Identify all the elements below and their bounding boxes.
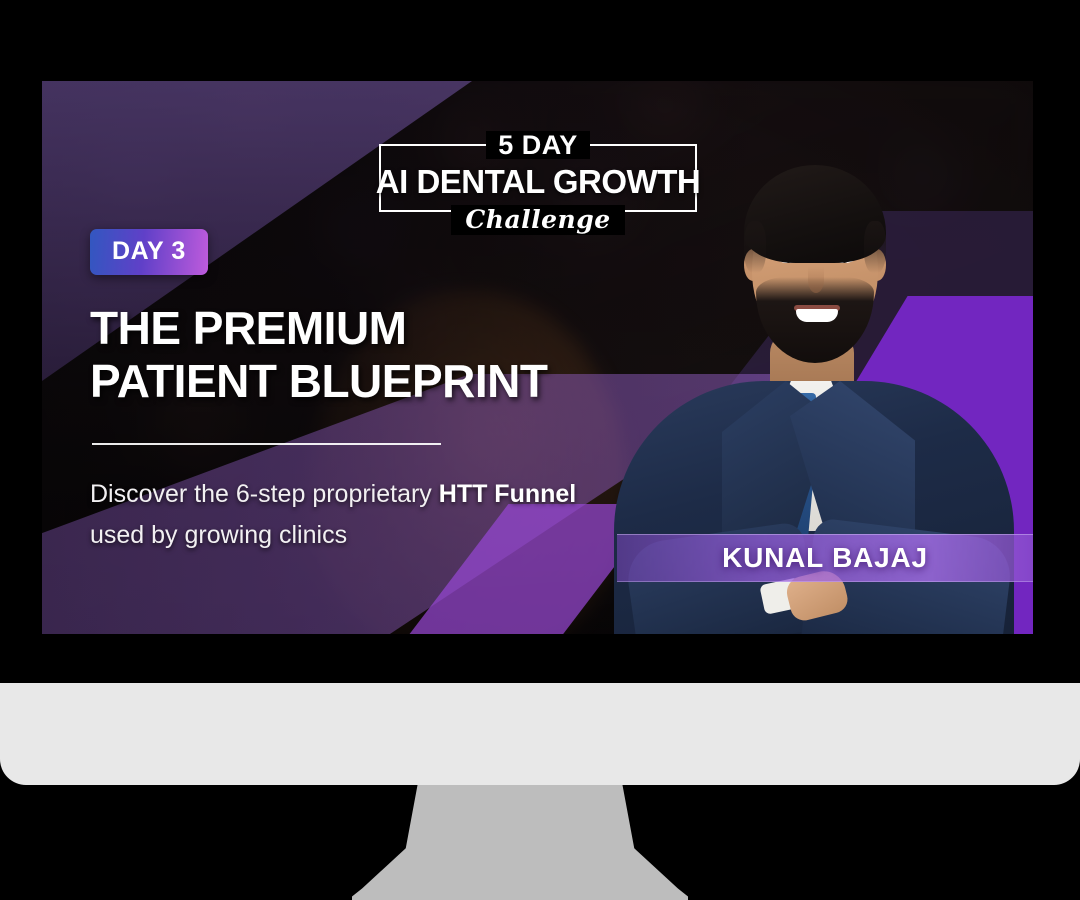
portrait-sideburn-right	[864, 221, 886, 273]
slide-headline: THE PREMIUM PATIENT BLUEPRINT	[90, 302, 710, 408]
headline-line-2: PATIENT BLUEPRINT	[90, 355, 710, 408]
speaker-name-bar: KUNAL BAJAJ	[617, 534, 1033, 582]
day-badge: DAY 3	[90, 229, 208, 275]
logo-script-label: Challenge	[333, 205, 743, 235]
portrait-sideburn-left	[744, 221, 766, 273]
headline-line-1: THE PREMIUM	[90, 302, 710, 355]
challenge-logo-badge: 5 DAY AI DENTAL GROWTH Challenge	[333, 126, 743, 226]
portrait-nose	[808, 267, 824, 293]
monitor-screen: 5 DAY AI DENTAL GROWTH Challenge DAY 3 T…	[42, 81, 1033, 634]
logo-top-label-text: 5 DAY	[486, 131, 590, 159]
subheading-part-1: Discover the 6-step proprietary	[90, 480, 439, 508]
headline-divider-rule	[92, 443, 441, 445]
speaker-name-text: KUNAL BAJAJ	[722, 542, 928, 574]
logo-script-label-text: Challenge	[451, 205, 624, 235]
monitor-chin	[0, 683, 1080, 785]
portrait-smile-teeth	[796, 309, 838, 322]
logo-main-label: AI DENTAL GROWTH	[333, 164, 743, 200]
slide-subheading: Discover the 6-step proprietary HTT Funn…	[90, 474, 610, 556]
subheading-part-2: used by growing clinics	[90, 521, 347, 549]
logo-top-label: 5 DAY	[333, 131, 743, 159]
monitor-stand	[352, 785, 688, 900]
subheading-bold-term: HTT Funnel	[439, 480, 576, 508]
screenshot-stage: 5 DAY AI DENTAL GROWTH Challenge DAY 3 T…	[0, 0, 1080, 900]
